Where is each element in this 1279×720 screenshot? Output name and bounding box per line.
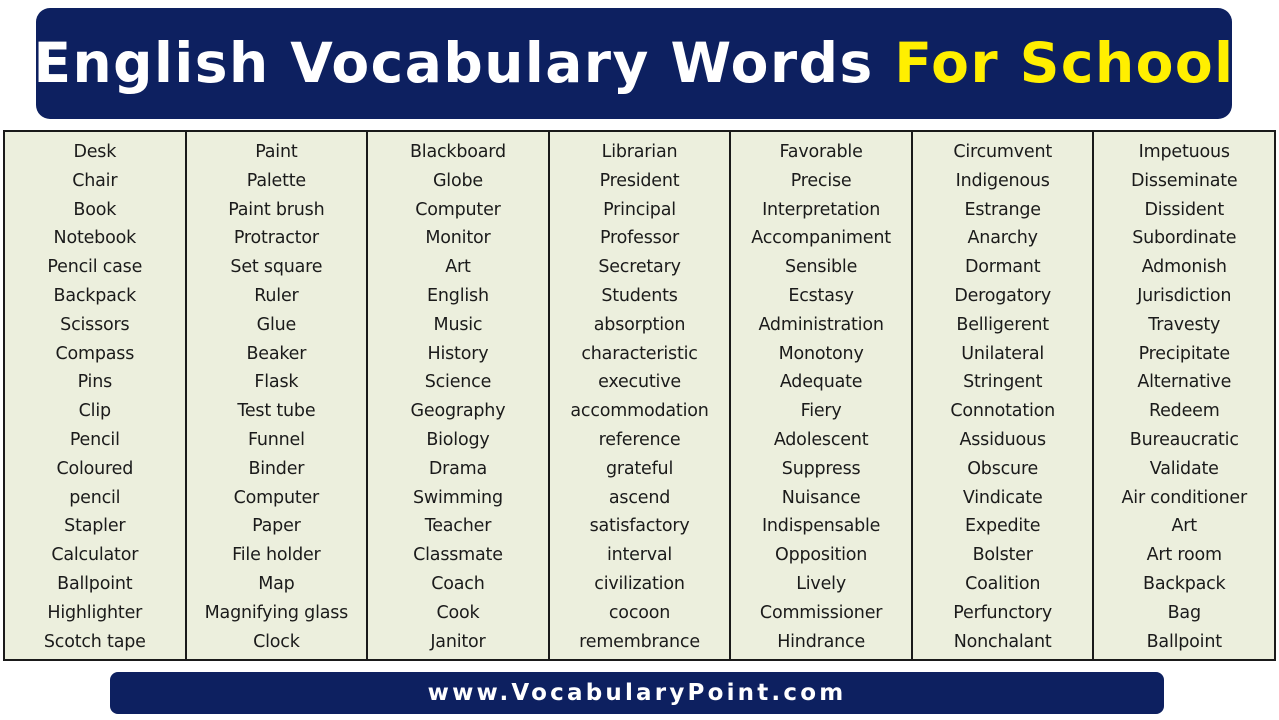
vocabulary-word: cocoon (609, 599, 670, 628)
vocabulary-word: Pencil (70, 426, 120, 455)
vocabulary-word: Accompaniment (751, 224, 891, 253)
vocabulary-word: Swimming (413, 484, 503, 513)
vocabulary-word: Binder (248, 455, 304, 484)
vocabulary-column: CircumventIndigenousEstrangeAnarchyDorma… (913, 132, 1095, 659)
vocabulary-word: Beaker (246, 340, 306, 369)
vocabulary-word: Computer (234, 484, 319, 513)
vocabulary-word: Test tube (237, 397, 315, 426)
vocabulary-word: Janitor (430, 628, 485, 657)
vocabulary-column: FavorablePreciseInterpretationAccompanim… (731, 132, 913, 659)
vocabulary-word: Highlighter (47, 599, 142, 628)
vocabulary-word: Interpretation (762, 196, 880, 225)
vocabulary-word: Paint brush (228, 196, 324, 225)
vocabulary-word: English (427, 282, 489, 311)
vocabulary-word: Connotation (950, 397, 1055, 426)
vocabulary-word: Backpack (1143, 570, 1225, 599)
vocabulary-word: Computer (415, 196, 500, 225)
vocabulary-word: Teacher (425, 512, 491, 541)
vocabulary-word: Stapler (64, 512, 125, 541)
vocabulary-word: remembrance (579, 628, 700, 657)
vocabulary-column: BlackboardGlobeComputerMonitorArtEnglish… (368, 132, 550, 659)
vocabulary-word: Book (73, 196, 116, 225)
vocabulary-word: Favorable (780, 138, 863, 167)
vocabulary-word: satisfactory (590, 512, 690, 541)
vocabulary-word: Bureaucratic (1130, 426, 1239, 455)
vocabulary-word: Scissors (60, 311, 129, 340)
vocabulary-word: File holder (232, 541, 320, 570)
vocabulary-table: DeskChairBookNotebookPencil caseBackpack… (3, 130, 1276, 661)
vocabulary-word: Sensible (785, 253, 857, 282)
page-title-yellow-part: For School (894, 31, 1234, 95)
page-title: English Vocabulary Words For School (33, 36, 1234, 91)
vocabulary-word: Palette (247, 167, 306, 196)
vocabulary-word: Librarian (602, 138, 678, 167)
vocabulary-word: Precise (791, 167, 852, 196)
vocabulary-word: Indigenous (956, 167, 1050, 196)
website-url: www.VocabularyPoint.com (428, 680, 847, 706)
vocabulary-word: Glue (257, 311, 296, 340)
footer-banner: www.VocabularyPoint.com (110, 672, 1164, 714)
vocabulary-word: Pencil case (47, 253, 142, 282)
vocabulary-word: Suppress (782, 455, 861, 484)
page-title-white-part: English Vocabulary Words (33, 31, 894, 95)
vocabulary-word: Clip (79, 397, 111, 426)
vocabulary-word: Adolescent (774, 426, 869, 455)
vocabulary-word: Map (258, 570, 294, 599)
vocabulary-column: LibrarianPresidentPrincipalProfessorSecr… (550, 132, 732, 659)
vocabulary-word: Impetuous (1139, 138, 1230, 167)
vocabulary-word: grateful (606, 455, 673, 484)
vocabulary-word: Pins (78, 368, 112, 397)
vocabulary-word: Art (445, 253, 470, 282)
vocabulary-word: Coloured (56, 455, 133, 484)
vocabulary-column: DeskChairBookNotebookPencil caseBackpack… (5, 132, 187, 659)
vocabulary-word: Blackboard (410, 138, 506, 167)
vocabulary-word: Classmate (413, 541, 503, 570)
vocabulary-word: Perfunctory (953, 599, 1052, 628)
vocabulary-word: Nonchalant (954, 628, 1052, 657)
vocabulary-word: Professor (600, 224, 679, 253)
vocabulary-word: Dormant (965, 253, 1040, 282)
vocabulary-word: President (600, 167, 680, 196)
vocabulary-word: ascend (609, 484, 670, 513)
vocabulary-word: accommodation (570, 397, 708, 426)
vocabulary-word: reference (599, 426, 681, 455)
vocabulary-word: Lively (796, 570, 846, 599)
vocabulary-word: Stringent (963, 368, 1042, 397)
vocabulary-word: Flask (254, 368, 298, 397)
vocabulary-word: Paint (255, 138, 297, 167)
vocabulary-word: Cook (436, 599, 479, 628)
vocabulary-word: Dissident (1145, 196, 1224, 225)
vocabulary-word: Desk (73, 138, 116, 167)
vocabulary-word: Derogatory (954, 282, 1051, 311)
vocabulary-word: Opposition (775, 541, 867, 570)
vocabulary-word: civilization (594, 570, 684, 599)
vocabulary-word: Chair (72, 167, 117, 196)
vocabulary-word: Commissioner (760, 599, 882, 628)
vocabulary-word: Vindicate (963, 484, 1043, 513)
vocabulary-word: Precipitate (1139, 340, 1230, 369)
vocabulary-column: PaintPalettePaint brushProtractorSet squ… (187, 132, 369, 659)
vocabulary-word: Fiery (801, 397, 842, 426)
vocabulary-word: executive (598, 368, 681, 397)
vocabulary-word: Adequate (780, 368, 863, 397)
vocabulary-word: Obscure (967, 455, 1038, 484)
vocabulary-word: Estrange (965, 196, 1041, 225)
vocabulary-word: pencil (69, 484, 120, 513)
vocabulary-word: Admonish (1142, 253, 1227, 282)
vocabulary-word: Hindrance (777, 628, 865, 657)
vocabulary-word: Clock (253, 628, 300, 657)
vocabulary-word: Funnel (248, 426, 305, 455)
vocabulary-word: Principal (603, 196, 676, 225)
vocabulary-word: Belligerent (956, 311, 1049, 340)
vocabulary-word: Coach (431, 570, 484, 599)
vocabulary-word: Assiduous (959, 426, 1045, 455)
vocabulary-word: Administration (758, 311, 883, 340)
vocabulary-word: Jurisdiction (1137, 282, 1231, 311)
vocabulary-word: Music (434, 311, 483, 340)
vocabulary-word: Subordinate (1132, 224, 1236, 253)
vocabulary-word: Unilateral (961, 340, 1044, 369)
vocabulary-word: Secretary (598, 253, 680, 282)
title-banner: English Vocabulary Words For School (36, 8, 1232, 119)
vocabulary-word: Expedite (965, 512, 1040, 541)
vocabulary-word: Art (1172, 512, 1197, 541)
vocabulary-word: Ecstasy (788, 282, 853, 311)
vocabulary-word: Biology (426, 426, 489, 455)
vocabulary-word: Students (601, 282, 677, 311)
vocabulary-word: Backpack (54, 282, 136, 311)
vocabulary-word: characteristic (581, 340, 697, 369)
vocabulary-word: Ballpoint (1147, 628, 1222, 657)
vocabulary-word: Coalition (965, 570, 1040, 599)
vocabulary-word: Set square (230, 253, 322, 282)
vocabulary-word: Monotony (779, 340, 864, 369)
vocabulary-word: Ballpoint (57, 570, 132, 599)
vocabulary-word: Indispensable (762, 512, 880, 541)
vocabulary-word: Bag (1168, 599, 1201, 628)
vocabulary-word: Air conditioner (1122, 484, 1247, 513)
vocabulary-word: Protractor (234, 224, 319, 253)
vocabulary-word: absorption (594, 311, 685, 340)
vocabulary-word: Bolster (973, 541, 1033, 570)
vocabulary-word: Anarchy (968, 224, 1038, 253)
vocabulary-word: Geography (411, 397, 506, 426)
vocabulary-word: Magnifying glass (205, 599, 348, 628)
vocabulary-word: Compass (55, 340, 134, 369)
vocabulary-word: History (428, 340, 489, 369)
vocabulary-column: ImpetuousDisseminateDissidentSubordinate… (1094, 132, 1274, 659)
vocabulary-word: Paper (252, 512, 301, 541)
vocabulary-word: Science (425, 368, 491, 397)
vocabulary-word: Calculator (51, 541, 138, 570)
vocabulary-word: Globe (433, 167, 483, 196)
vocabulary-word: Monitor (425, 224, 490, 253)
vocabulary-word: Notebook (54, 224, 136, 253)
vocabulary-word: Redeem (1149, 397, 1220, 426)
vocabulary-word: Drama (429, 455, 487, 484)
vocabulary-word: Disseminate (1131, 167, 1238, 196)
vocabulary-word: Alternative (1137, 368, 1231, 397)
vocabulary-word: interval (607, 541, 672, 570)
vocabulary-word: Scotch tape (44, 628, 146, 657)
vocabulary-word: Nuisance (782, 484, 861, 513)
vocabulary-word: Ruler (254, 282, 298, 311)
vocabulary-word: Art room (1147, 541, 1222, 570)
vocabulary-word: Travesty (1148, 311, 1220, 340)
vocabulary-word: Validate (1150, 455, 1219, 484)
vocabulary-word: Circumvent (953, 138, 1052, 167)
